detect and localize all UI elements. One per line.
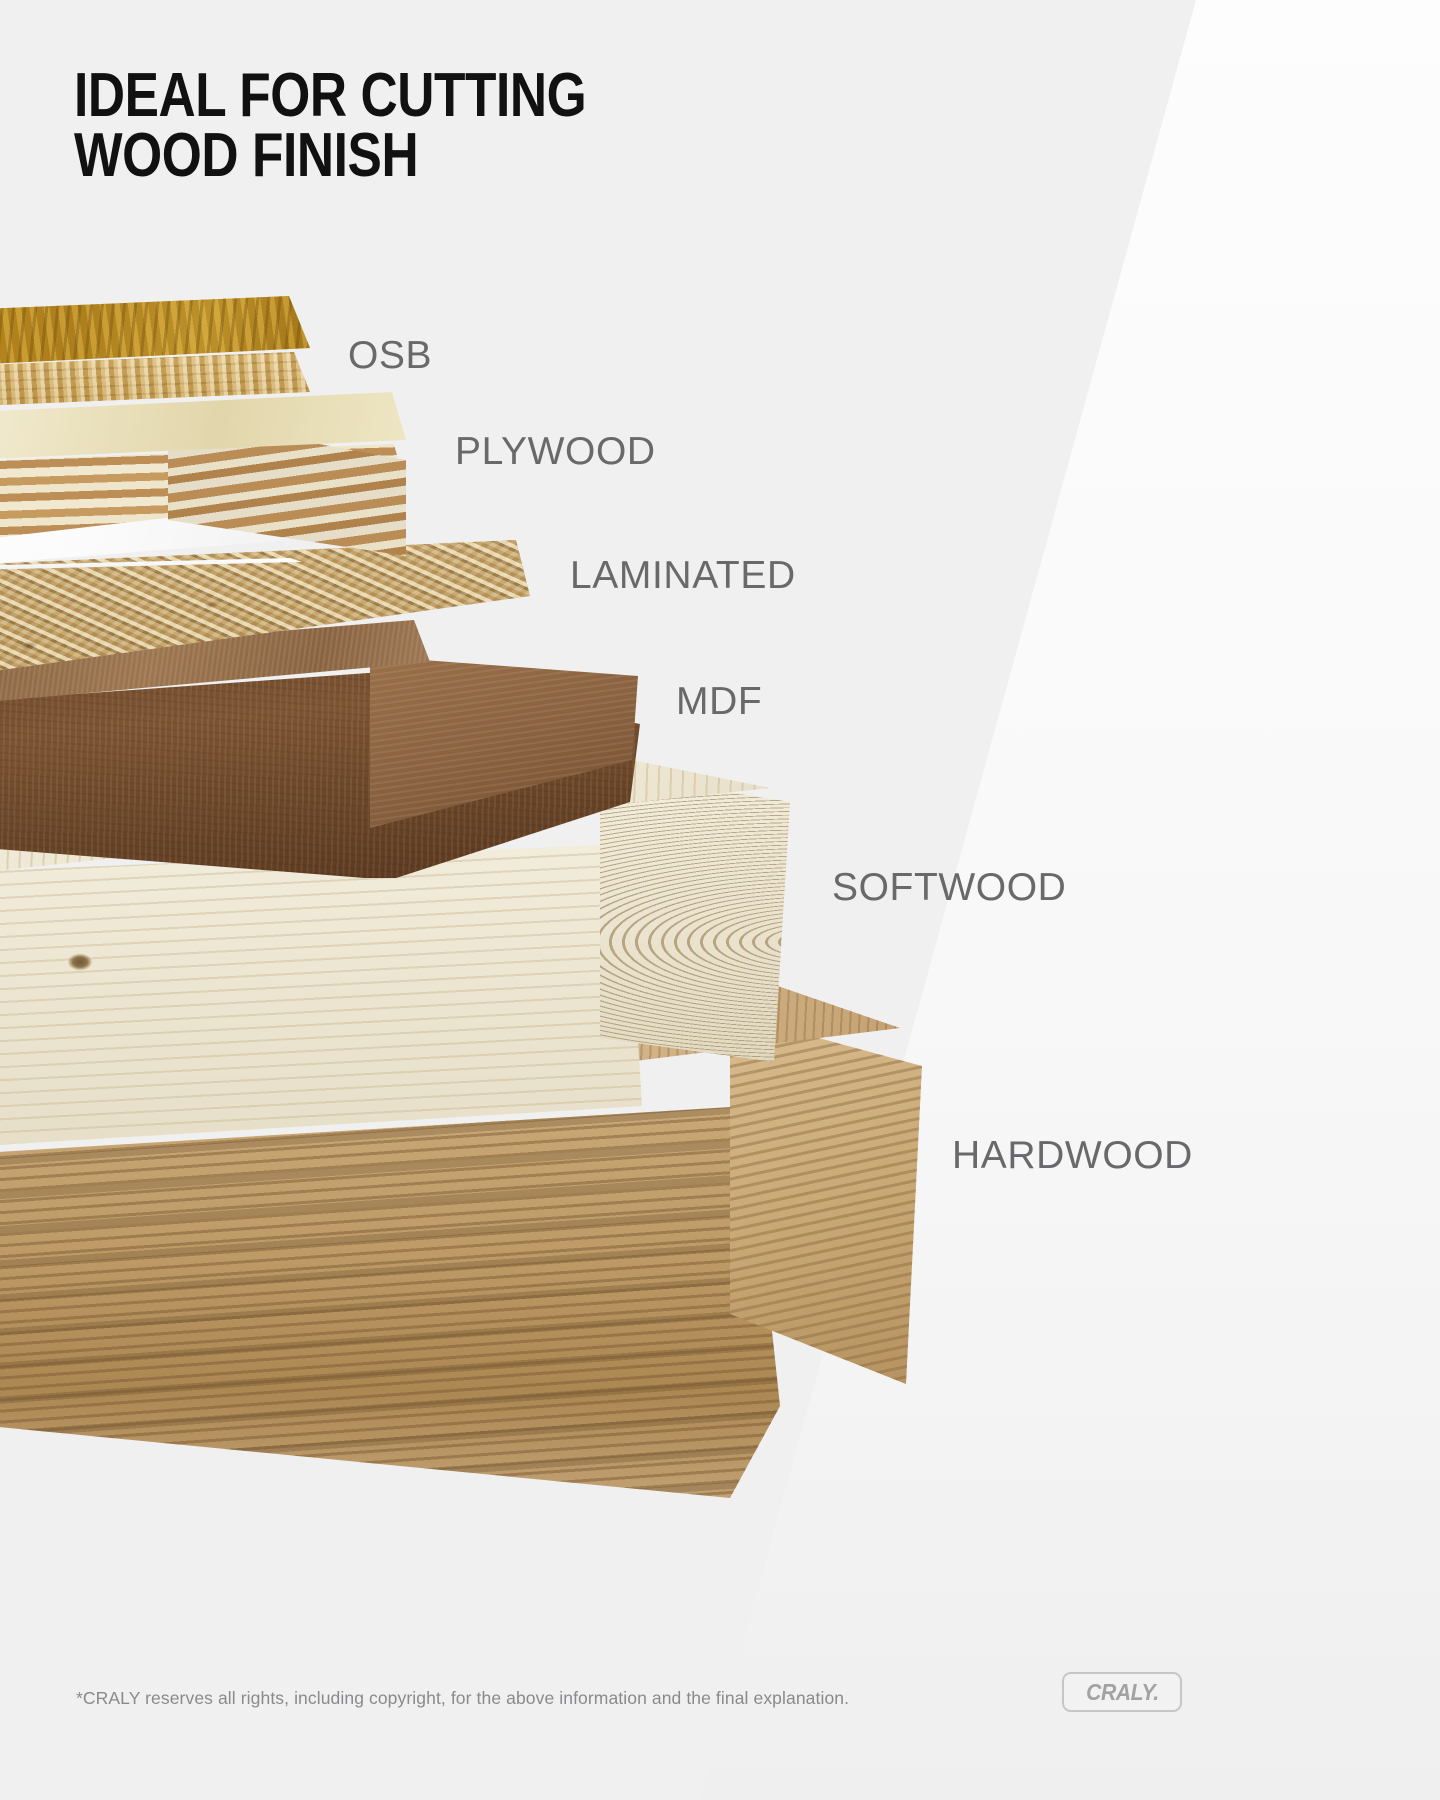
label-laminated: LAMINATED — [570, 556, 796, 595]
craly-logo-text: CRALY. — [1086, 1679, 1158, 1706]
poster-canvas: IDEAL FOR CUTTING WOOD FINISH — [0, 0, 1440, 1800]
slab-osb — [0, 296, 330, 426]
hardwood-front-face — [0, 1106, 780, 1500]
osb-front-face — [0, 352, 310, 426]
copyright-note: *CRALY reserves all rights, including co… — [76, 1688, 849, 1709]
label-softwood: SOFTWOOD — [832, 868, 1066, 907]
label-mdf: MDF — [676, 682, 762, 721]
wood-stack-illustration — [0, 0, 1440, 1800]
label-hardwood: HARDWOOD — [952, 1136, 1193, 1175]
softwood-front-face — [0, 844, 650, 1160]
label-osb: OSB — [348, 336, 432, 375]
label-plywood: PLYWOOD — [455, 432, 656, 471]
craly-logo: CRALY. — [1062, 1672, 1182, 1712]
